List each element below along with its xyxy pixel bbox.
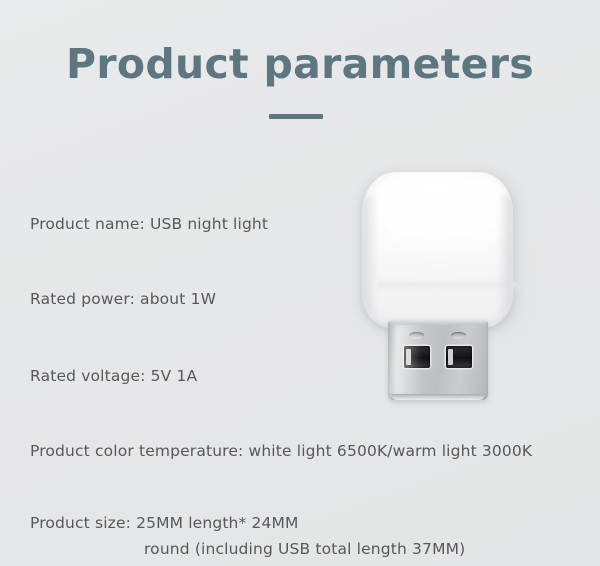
spec-product-size-line-2: round (including USB total length 37MM) bbox=[144, 540, 465, 558]
spec-rated-power: Rated power: about 1W bbox=[30, 290, 216, 308]
lamp-left-shading bbox=[362, 194, 378, 314]
lamp-top-highlight bbox=[384, 192, 510, 250]
usb-a-connector bbox=[388, 320, 488, 400]
product-parameters-page: Product parameters Product name: USB nig… bbox=[0, 0, 600, 566]
usb-bottom-lip bbox=[391, 394, 485, 400]
spec-product-size-line-1: Product size: 25MM length* 24MM bbox=[30, 514, 299, 532]
page-title: Product parameters bbox=[0, 43, 600, 86]
lamp-right-shading bbox=[497, 194, 513, 314]
spec-product-name: Product name: USB night light bbox=[30, 215, 268, 233]
lamp-diffuser-body bbox=[362, 172, 513, 328]
spec-rated-voltage: Rated voltage: 5V 1A bbox=[30, 367, 197, 385]
title-divider bbox=[269, 114, 323, 119]
usb-sheen-highlight bbox=[394, 325, 422, 395]
usb-dimple-right bbox=[451, 332, 466, 339]
product-photo-usb-night-light bbox=[352, 160, 527, 410]
spec-color-temperature: Product color temperature: white light 6… bbox=[30, 442, 532, 460]
usb-contact-slot-right bbox=[446, 346, 472, 368]
